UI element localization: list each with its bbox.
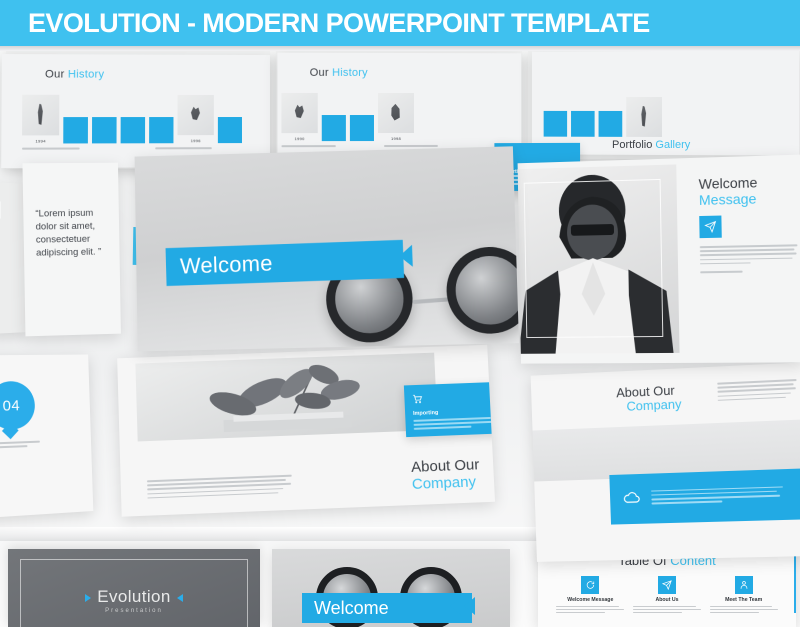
cloud-icon bbox=[621, 486, 641, 511]
portrait-photo bbox=[518, 164, 680, 353]
body-text bbox=[700, 244, 798, 264]
page-title: EVOLUTION - MODERN POWERPOINT TEMPLATE bbox=[0, 8, 650, 39]
toc-item-label: About Us bbox=[633, 597, 701, 603]
heading-line-2: Company bbox=[626, 396, 681, 413]
cover-subtitle: Presentation bbox=[8, 608, 260, 614]
timeline-block bbox=[322, 115, 346, 141]
toc-item[interactable]: Welcome Message bbox=[556, 576, 624, 615]
slide-welcome-main[interactable]: Welcome bbox=[135, 146, 519, 351]
cover-title: Evolution bbox=[8, 587, 260, 607]
timeline-block bbox=[149, 117, 173, 143]
slide-about-company-2[interactable]: About Our Company bbox=[531, 362, 800, 562]
heading-line-2: Company bbox=[412, 473, 481, 493]
timeline-block bbox=[218, 117, 242, 143]
timeline-block bbox=[544, 111, 567, 137]
slide-quote[interactable]: “Lorem ipsum dolor sit amet, consectetue… bbox=[22, 163, 120, 337]
welcome-title: Welcome bbox=[166, 250, 273, 280]
toc-item[interactable]: Meet The Team bbox=[710, 576, 778, 615]
toc-item-body bbox=[710, 606, 778, 613]
history-timeline bbox=[532, 51, 799, 137]
quote-text: “Lorem ipsum dolor sit amet, consectetue… bbox=[22, 163, 119, 260]
cloud-band bbox=[609, 468, 800, 524]
paper-plane-icon bbox=[699, 216, 722, 239]
timeline-year: 1996 bbox=[178, 138, 214, 143]
timeline-photo bbox=[178, 95, 214, 135]
signature bbox=[700, 270, 798, 273]
heading-plain: Portfolio bbox=[612, 139, 655, 151]
person-icon bbox=[735, 576, 753, 594]
slide-heading: Our History bbox=[2, 54, 270, 81]
card-importing-inline[interactable]: Importing bbox=[404, 382, 495, 437]
bridge bbox=[413, 297, 451, 304]
timeline-photo bbox=[626, 97, 662, 137]
toc-item-label: Welcome Message bbox=[556, 597, 624, 603]
heading-accent: Gallery bbox=[655, 139, 690, 151]
welcome-message-content: Welcome Message bbox=[699, 173, 798, 276]
slide-our-history-1[interactable]: Our History 1994 1996 bbox=[1, 54, 270, 168]
slide-welcome-bottom[interactable]: Welcome bbox=[272, 549, 510, 627]
accent-edge bbox=[794, 549, 796, 613]
speech-bubble-icon bbox=[581, 576, 599, 594]
quote-tail bbox=[0, 201, 1, 219]
body-text bbox=[717, 379, 797, 404]
heading-accent: History bbox=[68, 68, 104, 80]
timeline-block bbox=[121, 117, 145, 143]
welcome-band: Welcome bbox=[166, 240, 405, 286]
cover-title-text: Evolution bbox=[97, 587, 171, 606]
toc-item-label: Meet The Team bbox=[710, 597, 778, 603]
toc-item-list: Welcome Message About Us bbox=[538, 576, 796, 615]
welcome-band: Welcome bbox=[302, 593, 472, 623]
toc-item-body bbox=[633, 606, 701, 613]
heading-plain: Our bbox=[45, 68, 68, 80]
double-left-arrow-icon[interactable] bbox=[450, 597, 475, 615]
timeline-block bbox=[350, 115, 374, 141]
timeline-year: 1990 bbox=[281, 136, 317, 141]
toc-item-body bbox=[556, 606, 624, 613]
slide-number-badge[interactable]: 04 bbox=[0, 355, 93, 519]
timeline-block bbox=[599, 111, 623, 137]
slide-welcome-message[interactable]: Welcome Message bbox=[518, 155, 800, 364]
cover-title-wrap: Evolution Presentation bbox=[8, 587, 260, 614]
timeline-photo bbox=[281, 93, 317, 133]
card-label: Importing bbox=[413, 408, 493, 417]
timeline-caption bbox=[22, 147, 80, 151]
triangle-left-icon bbox=[85, 594, 91, 602]
timeline-block bbox=[92, 117, 117, 143]
timeline-photo bbox=[22, 95, 59, 136]
timeline-caption bbox=[155, 147, 212, 151]
heading-plain: Our bbox=[310, 67, 332, 79]
shopping-cart-icon bbox=[412, 388, 492, 409]
slide-heading: Our History bbox=[277, 53, 521, 79]
timeline-caption bbox=[281, 145, 335, 149]
band-body bbox=[651, 486, 795, 507]
body-text bbox=[147, 475, 293, 502]
double-left-arrow-icon[interactable] bbox=[383, 245, 413, 268]
slide-collage-stage: Our History 1994 1996 Our History bbox=[0, 51, 800, 627]
heading-line-2: Message bbox=[699, 189, 797, 208]
card-body bbox=[413, 417, 493, 430]
timeline-year: 1998 bbox=[378, 136, 414, 141]
timeline-year: 1994 bbox=[22, 138, 59, 143]
header-banner: EVOLUTION - MODERN POWERPOINT TEMPLATE bbox=[0, 0, 800, 46]
heading-portfolio-gallery: Portfolio Gallery bbox=[612, 139, 690, 151]
toc-item[interactable]: About Us bbox=[633, 576, 701, 615]
history-timeline: 1990 1998 bbox=[277, 79, 521, 141]
slide-evolution-cover[interactable]: Evolution Presentation bbox=[8, 549, 260, 627]
triangle-right-icon bbox=[177, 594, 183, 602]
about-heading: About Our Company bbox=[411, 456, 481, 493]
badge-number: 04 bbox=[0, 381, 36, 431]
plant-illustration bbox=[135, 353, 437, 442]
heading-accent: History bbox=[332, 67, 368, 79]
badge-body bbox=[0, 440, 46, 451]
paper-plane-icon bbox=[658, 576, 676, 594]
lens-right bbox=[445, 246, 519, 335]
timeline-block bbox=[571, 111, 595, 137]
photo-frame bbox=[524, 179, 664, 338]
timeline-block bbox=[63, 117, 88, 143]
timeline-photo bbox=[378, 93, 414, 133]
history-timeline: 1994 1996 bbox=[1, 80, 270, 143]
slide-about-company-1[interactable]: Importing About Our Company bbox=[117, 345, 495, 517]
welcome-title: Welcome bbox=[302, 598, 389, 619]
plant-photo bbox=[135, 353, 437, 442]
